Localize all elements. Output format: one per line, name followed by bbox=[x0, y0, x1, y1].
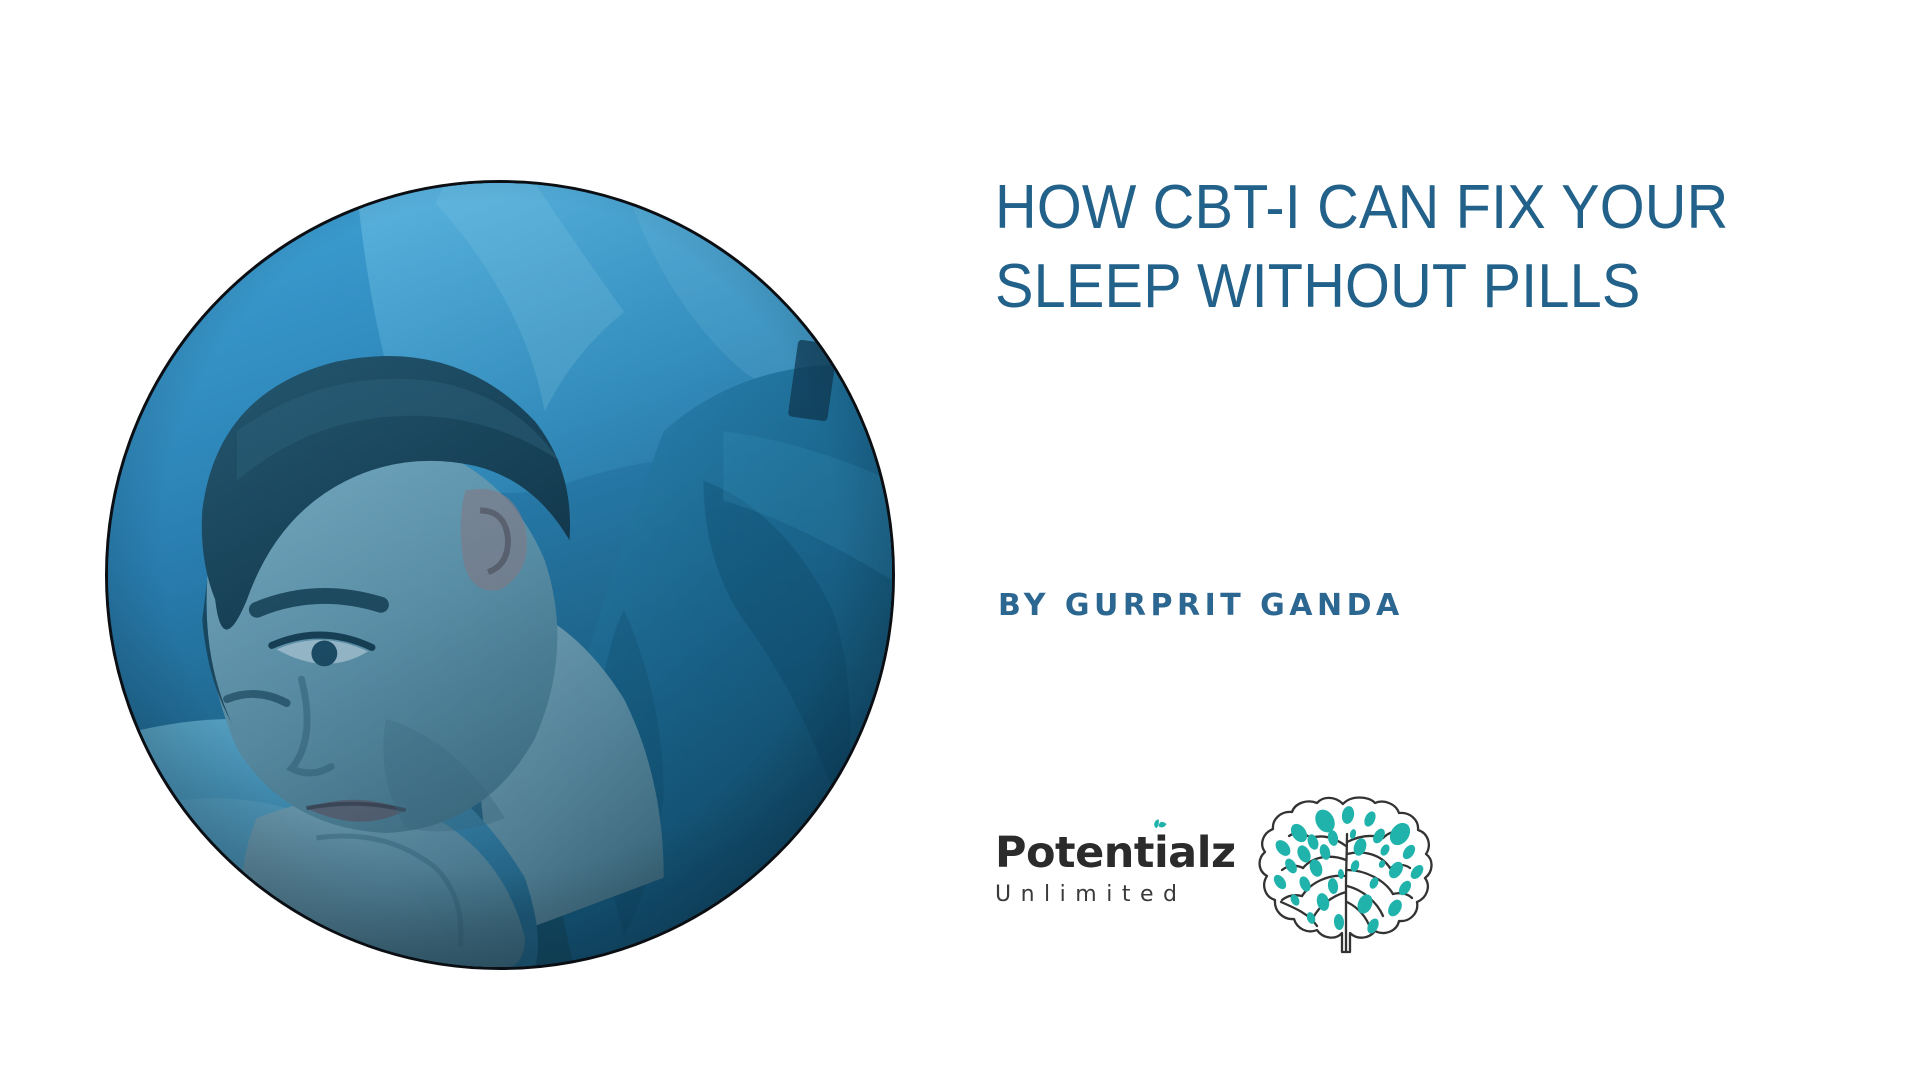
brand-logo-text: Potentialz Unlimited bbox=[995, 832, 1255, 906]
article-cover-slide: HOW CBT-I CAN FIX YOUR SLEEP WITHOUT PIL… bbox=[0, 0, 1920, 1080]
brand-name: Potentialz bbox=[995, 832, 1255, 875]
cover-photo bbox=[105, 180, 895, 970]
brand-logo: Potentialz Unlimited bbox=[995, 790, 1465, 960]
content-column: HOW CBT-I CAN FIX YOUR SLEEP WITHOUT PIL… bbox=[995, 0, 1875, 1080]
brain-tree-icon bbox=[1247, 790, 1442, 955]
brand-tagline: Unlimited bbox=[995, 884, 1255, 906]
leaf-icon bbox=[1147, 818, 1169, 836]
page-title: HOW CBT-I CAN FIX YOUR SLEEP WITHOUT PIL… bbox=[995, 168, 1795, 327]
sleepless-man-photo-illustration bbox=[108, 183, 892, 967]
byline: BY GURPRIT GANDA bbox=[998, 588, 1404, 623]
